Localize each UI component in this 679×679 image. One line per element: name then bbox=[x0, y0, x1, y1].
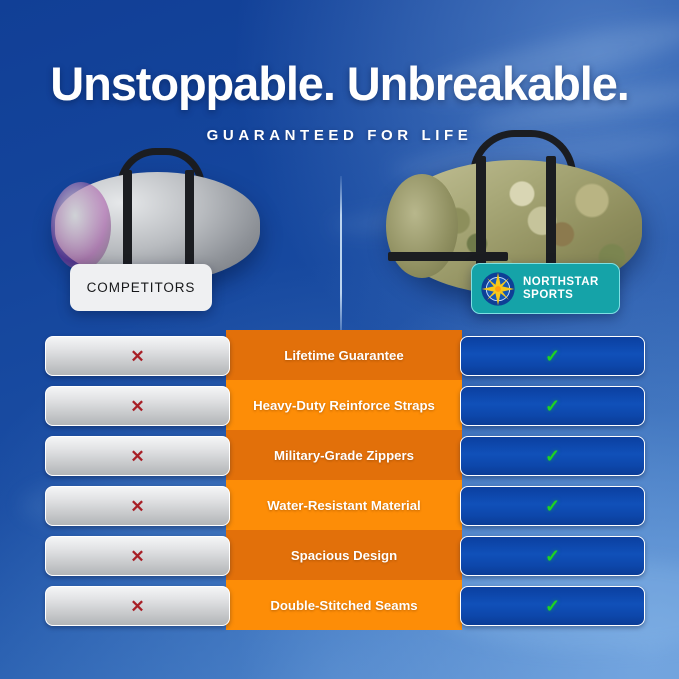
check-icon: ✓ bbox=[545, 497, 560, 515]
feature-label-cell: Spacious Design bbox=[226, 530, 462, 580]
cross-icon: ✕ bbox=[130, 498, 144, 515]
competitor-result-cell: ✕ bbox=[45, 336, 230, 376]
competitor-result-cell: ✕ bbox=[45, 586, 230, 626]
bag-end-cap bbox=[386, 174, 458, 278]
brand-name: NORTHSTAR SPORTS bbox=[523, 276, 599, 302]
feature-label-text: Lifetime Guarantee bbox=[284, 348, 403, 363]
cross-icon: ✕ bbox=[130, 548, 144, 565]
competitor-result-cell: ✕ bbox=[45, 486, 230, 526]
northstar-result-cell: ✓ bbox=[460, 386, 645, 426]
feature-label-cell: Heavy-Duty Reinforce Straps bbox=[226, 380, 462, 430]
vertical-divider bbox=[340, 176, 342, 332]
northstar-result-cell: ✓ bbox=[460, 436, 645, 476]
page-subtitle: GUARANTEED FOR LIFE bbox=[0, 127, 679, 144]
feature-label-text: Water-Resistant Material bbox=[267, 498, 420, 513]
product-comparison-infographic: Unstoppable. Unbreakable. GUARANTEED FOR… bbox=[0, 0, 679, 679]
competitors-label-text: COMPETITORS bbox=[87, 280, 196, 295]
check-icon: ✓ bbox=[545, 547, 560, 565]
feature-label-text: Heavy-Duty Reinforce Straps bbox=[253, 398, 435, 413]
check-icon: ✓ bbox=[545, 397, 560, 415]
brand-name-line2: SPORTS bbox=[523, 289, 599, 302]
brand-name-line1: NORTHSTAR bbox=[523, 276, 599, 289]
cross-icon: ✕ bbox=[130, 398, 144, 415]
cross-icon: ✕ bbox=[130, 348, 144, 365]
cross-icon: ✕ bbox=[130, 448, 144, 465]
feature-label-text: Spacious Design bbox=[291, 548, 397, 563]
competitor-result-cell: ✕ bbox=[45, 536, 230, 576]
northstar-result-cell: ✓ bbox=[460, 486, 645, 526]
check-icon: ✓ bbox=[545, 347, 560, 365]
check-icon: ✓ bbox=[545, 447, 560, 465]
northstar-brand-badge: NORTHSTAR SPORTS bbox=[471, 263, 620, 314]
feature-label-cell: Lifetime Guarantee bbox=[226, 330, 462, 380]
competitor-result-column: ✕✕✕✕✕✕ bbox=[45, 336, 230, 636]
northstar-result-cell: ✓ bbox=[460, 336, 645, 376]
feature-label-cell: Military-Grade Zippers bbox=[226, 430, 462, 480]
bag-strap bbox=[388, 252, 508, 261]
feature-label-cell: Water-Resistant Material bbox=[226, 480, 462, 530]
page-title: Unstoppable. Unbreakable. bbox=[0, 56, 679, 111]
feature-label-text: Military-Grade Zippers bbox=[274, 448, 414, 463]
northstar-result-cell: ✓ bbox=[460, 586, 645, 626]
northstar-result-cell: ✓ bbox=[460, 536, 645, 576]
competitor-result-cell: ✕ bbox=[45, 436, 230, 476]
cross-icon: ✕ bbox=[130, 598, 144, 615]
competitors-label-badge: COMPETITORS bbox=[70, 264, 212, 311]
competitor-result-cell: ✕ bbox=[45, 386, 230, 426]
feature-label-cell: Double-Stitched Seams bbox=[226, 580, 462, 630]
check-icon: ✓ bbox=[545, 597, 560, 615]
feature-label-column: Lifetime GuaranteeHeavy-Duty Reinforce S… bbox=[226, 330, 462, 630]
bag-end-cap bbox=[51, 182, 111, 270]
feature-label-text: Double-Stitched Seams bbox=[270, 598, 417, 613]
compass-star-logo-icon bbox=[480, 271, 516, 307]
northstar-result-column: ✓✓✓✓✓✓ bbox=[460, 336, 645, 636]
